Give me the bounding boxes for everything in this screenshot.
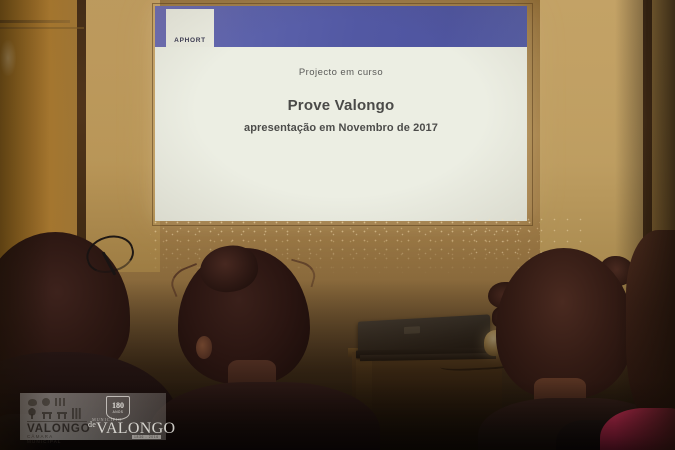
- watermark-de-prefix: de: [88, 420, 96, 429]
- slide-header-band: APHORT: [155, 6, 527, 47]
- slide-body: Projecto em curso Prove Valongo apresent…: [155, 47, 527, 221]
- watermark-years: 1836 - 2016: [132, 435, 161, 439]
- slide-date-line: apresentação em Novembro de 2017: [155, 122, 527, 134]
- slide-title: Prove Valongo: [155, 97, 527, 114]
- bench-icon-2: [57, 408, 67, 419]
- wall-panel-left: [86, 0, 160, 272]
- people-icon: [72, 408, 82, 419]
- slide-subtitle: Projecto em curso: [155, 67, 527, 78]
- grid-icon: [55, 398, 65, 406]
- aphort-logo: APHORT: [166, 9, 214, 47]
- vignette-right: [615, 0, 675, 450]
- wall-stripe-left: [77, 0, 86, 268]
- badge-label: ANOS: [113, 411, 124, 414]
- projected-slide: APHORT Projecto em curso Prove Valongo a…: [155, 6, 527, 221]
- badge-number: 180: [112, 402, 124, 410]
- photo-scene: APHORT Projecto em curso Prove Valongo a…: [0, 0, 675, 450]
- person-center-ear: [196, 336, 212, 359]
- aphort-logo-text: APHORT: [174, 37, 206, 44]
- watermark-180-anos-logo: 180 ANOS MUNICÍPIO deVALONGO 1836 - 2016: [90, 394, 164, 439]
- vignette-left: [0, 0, 50, 450]
